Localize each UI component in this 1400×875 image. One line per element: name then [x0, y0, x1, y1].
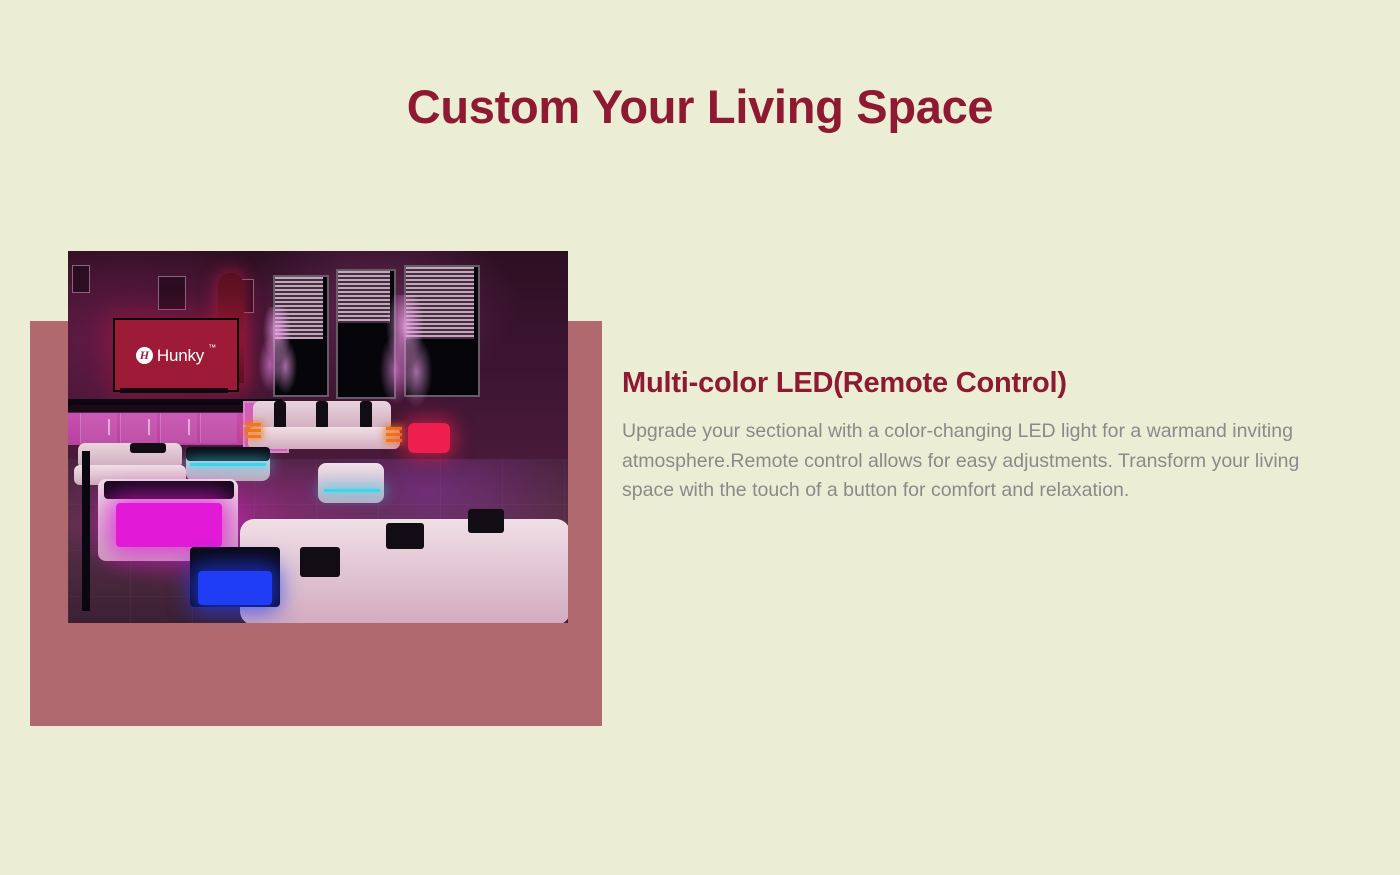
side-table-led	[324, 489, 380, 492]
sofa-led-strip	[246, 429, 261, 432]
hunky-brand-text: Hunky	[157, 347, 204, 364]
sofa-cushion-dark	[130, 443, 166, 453]
sofa-cushion-dark	[274, 401, 286, 429]
photo-scene: H Hunky ™	[68, 251, 568, 623]
sofa-cushion-dark	[386, 523, 424, 549]
tv-stand	[120, 388, 228, 393]
living-room-photo: H Hunky ™	[68, 251, 568, 623]
coffee-table-led	[190, 463, 266, 466]
sofa-cushion-dark	[300, 547, 340, 577]
console-door	[120, 413, 157, 443]
hunky-monogram: H	[140, 349, 149, 361]
sofa-led-panel	[408, 423, 450, 453]
decorative-plant	[254, 307, 300, 403]
console-handle	[148, 419, 150, 435]
trademark-icon: ™	[208, 344, 216, 352]
magenta-led-glow	[116, 503, 222, 547]
wall-frame-icon	[72, 265, 90, 293]
feature-heading: Multi-color LED(Remote Control)	[622, 368, 1322, 400]
sofa-cushion-dark	[360, 401, 372, 429]
page-title: Custom Your Living Space	[0, 83, 1400, 130]
floor-lamp-stand	[82, 451, 90, 611]
sofa-cushion-dark	[468, 509, 504, 533]
sofa-led-strip	[246, 435, 261, 438]
sofa-led-strip	[386, 433, 402, 436]
sofa-cushion-dark	[316, 401, 328, 429]
blue-led-glow	[198, 571, 272, 605]
feature-description: Upgrade your sectional with a color-chan…	[622, 417, 1322, 506]
console-door	[200, 413, 237, 443]
back-sofa-seat	[248, 427, 400, 449]
console-handle	[108, 419, 110, 435]
tv: H Hunky ™	[113, 318, 239, 392]
console-door	[80, 413, 117, 443]
sofa-led-strip	[246, 423, 261, 426]
console-handle	[188, 419, 190, 435]
side-table	[318, 463, 384, 503]
wall-frame-icon	[158, 276, 186, 310]
sofa-led-strip	[386, 439, 402, 442]
tv-screen: H Hunky ™	[115, 320, 237, 390]
hunky-logo-icon: H	[136, 347, 153, 364]
led-console-top	[104, 481, 234, 499]
product-feature-page: { "page": { "title": "Custom Your Living…	[0, 0, 1400, 875]
coffee-table-top	[186, 447, 270, 461]
console-door	[160, 413, 197, 443]
sofa-led-strip	[386, 427, 402, 430]
